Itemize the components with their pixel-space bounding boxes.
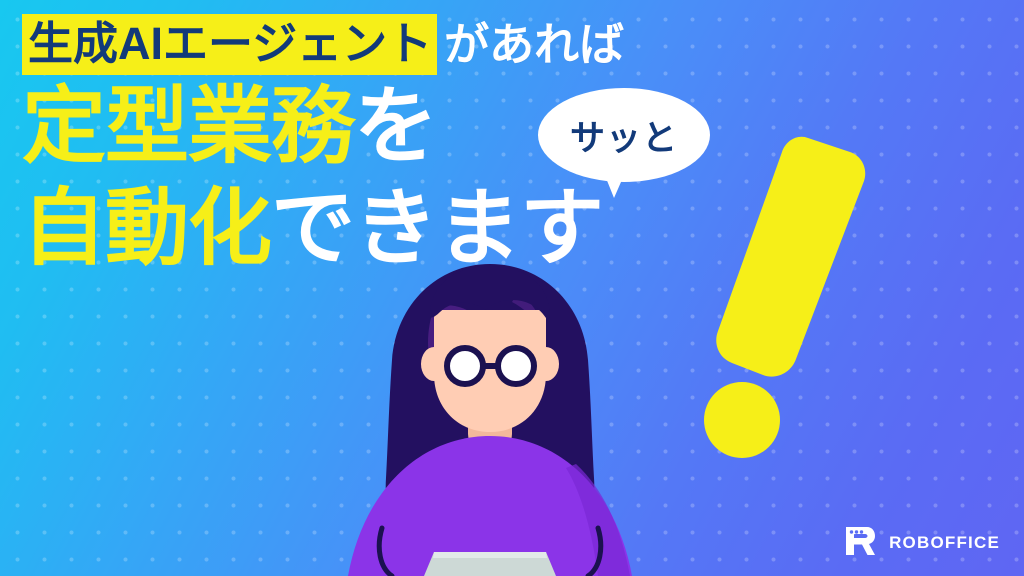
roboffice-r-mark-icon (843, 524, 877, 558)
headline-highlight-phrase: 生成AIエージェント (22, 14, 437, 75)
illustration-woman-at-laptop (330, 256, 650, 576)
laptop-screen-edge (433, 552, 547, 558)
speech-bubble: サッと (536, 88, 712, 200)
headline-line-1: 生成AIエージェントがあれば (22, 14, 782, 74)
headline-line-1-plain: があれば (444, 22, 624, 67)
poster-canvas: サッと 生成AIエージェントがあれば 定型業務を 自動化できます Roboffi… (0, 0, 1024, 576)
speech-bubble-text: サッと (536, 88, 712, 182)
brand-logo[interactable]: Roboffice (843, 524, 1000, 558)
headline-line-2-plain: を (354, 84, 437, 168)
headline-line-3-accent: 自動化 (22, 186, 271, 270)
exclamation-dot (704, 382, 780, 458)
brand-wordmark: Roboffice (889, 529, 1000, 553)
headline-line-2-accent: 定型業務 (22, 84, 354, 168)
